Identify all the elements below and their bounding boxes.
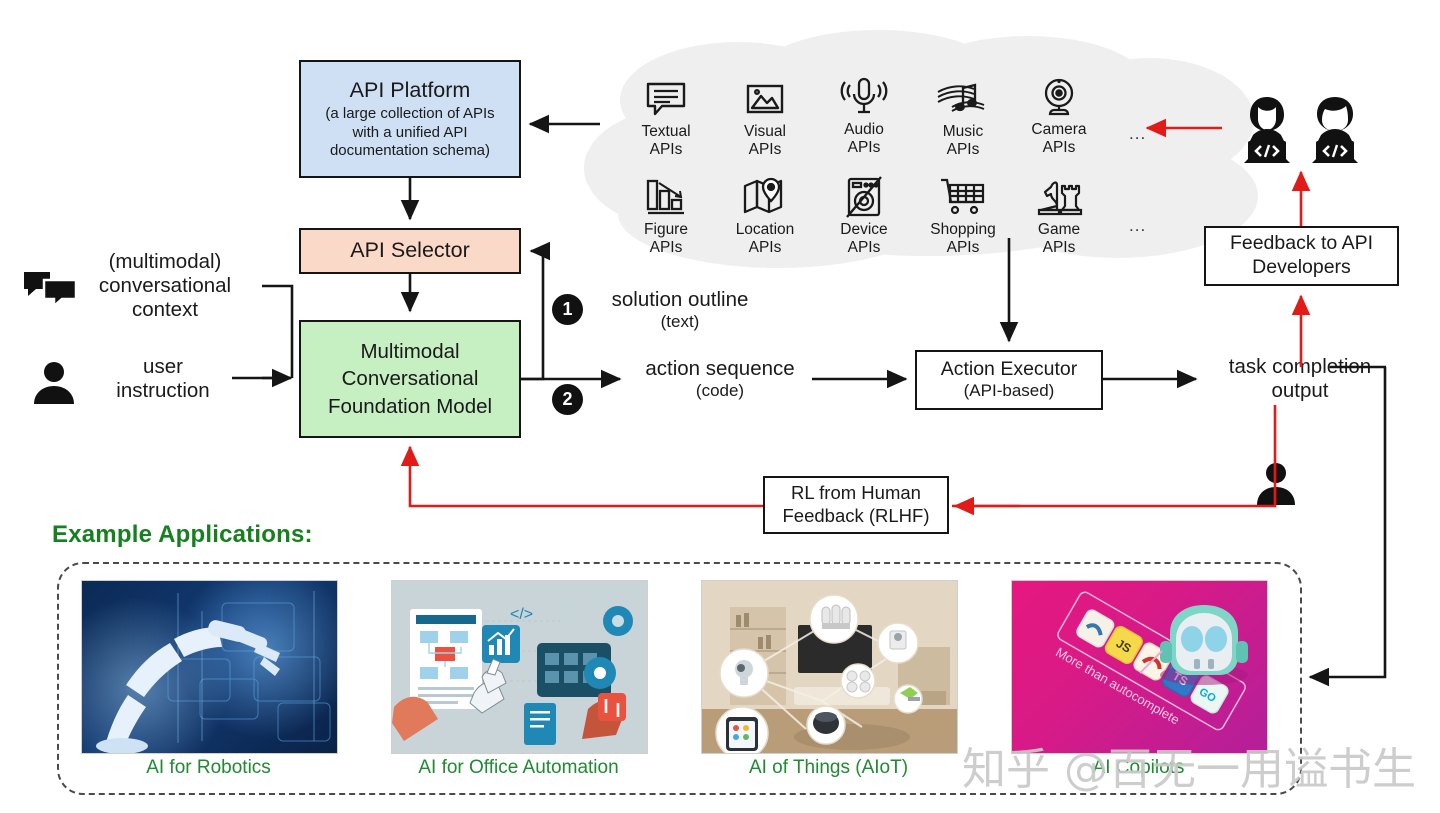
action-executor-title: Action Executor — [941, 358, 1078, 381]
line-output-to-rlhf — [952, 405, 1275, 506]
cloud-ellipsis-row2: ... — [1129, 216, 1146, 236]
example-thumbnail-office[interactable]: </> — [391, 580, 648, 754]
api-item-location[interactable]: LocationAPIs — [715, 170, 815, 257]
diagram-canvas: TextualAPIs VisualAPIs AudioAPIs — [0, 0, 1440, 813]
location-api-icon — [715, 170, 815, 218]
arrow-output-to-examples — [1310, 367, 1385, 677]
arrow-rlhf-to-model — [410, 447, 763, 506]
game-api-icon — [1009, 170, 1109, 218]
rlhf-title: RL from Human Feedback (RLHF) — [782, 482, 929, 527]
rlhf-box[interactable]: RL from Human Feedback (RLHF) — [763, 476, 949, 534]
example-caption-aiot: AI of Things (AIoT) — [701, 757, 956, 779]
arrow-model-to-selector-feedback — [521, 251, 543, 379]
device-api-icon — [814, 170, 914, 218]
cloud-ellipsis-row1: ... — [1129, 124, 1146, 144]
api-platform-subtitle: (a large collection of APIs with a unifi… — [325, 105, 494, 160]
api-label: Textual — [641, 123, 690, 140]
api-selector-box[interactable]: API Selector — [299, 228, 521, 274]
solution-outline-label: solution outline (text) — [592, 288, 768, 332]
foundation-model-box[interactable]: Multimodal Conversational Foundation Mod… — [299, 320, 521, 438]
api-item-device[interactable]: DeviceAPIs — [814, 170, 914, 257]
figure-api-icon — [616, 170, 716, 218]
example-applications-title: Example Applications: — [52, 521, 313, 549]
example-thumbnail-robotics[interactable] — [81, 580, 338, 754]
api-selector-title: API Selector — [350, 238, 470, 263]
api-item-visual[interactable]: VisualAPIs — [715, 72, 815, 159]
action-executor-subtitle: (API-based) — [964, 381, 1055, 401]
api-item-textual[interactable]: TextualAPIs — [616, 72, 716, 159]
example-thumbnail-aiot[interactable] — [701, 580, 958, 754]
foundation-model-title: Multimodal Conversational Foundation Mod… — [328, 338, 492, 419]
svg-text:</>: </> — [510, 606, 533, 623]
feedback-to-developers-box[interactable]: Feedback to API Developers — [1204, 226, 1399, 286]
developer-male-icon — [1304, 95, 1366, 167]
api-item-audio[interactable]: AudioAPIs — [814, 70, 914, 157]
action-sequence-label: action sequence (code) — [632, 357, 808, 401]
smart-home-iot-photo — [702, 581, 957, 753]
copilot-robot-graphic: JS TS GO More than autocomplete — [1012, 581, 1267, 753]
api-item-figure[interactable]: FigureAPIs — [616, 170, 716, 257]
api-item-game[interactable]: GameAPIs — [1009, 170, 1109, 257]
api-item-shopping[interactable]: ShoppingAPIs — [913, 170, 1013, 257]
music-api-icon — [913, 72, 1013, 120]
developer-female-icon — [1236, 95, 1298, 167]
watermark: 知乎 @百无一用谥书生 — [962, 733, 1416, 797]
api-item-camera[interactable]: CameraAPIs — [1009, 70, 1109, 157]
step-2-badge: 2 — [552, 384, 583, 415]
line-context-to-model — [262, 286, 292, 378]
camera-api-icon — [1009, 70, 1109, 118]
office-automation-illustration: </> — [392, 581, 647, 753]
conversational-context-label: (multimodal) conversational context — [70, 250, 260, 323]
feedback-to-developers-title: Feedback to API Developers — [1230, 232, 1373, 280]
user-instruction-label: user instruction — [88, 355, 238, 403]
api-label-2: APIs — [650, 141, 683, 158]
example-caption-robotics: AI for Robotics — [81, 757, 336, 779]
api-platform-box[interactable]: API Platform (a large collection of APIs… — [299, 60, 521, 178]
audio-api-icon — [814, 70, 914, 118]
api-item-music[interactable]: MusicAPIs — [913, 72, 1013, 159]
step-1-badge: 1 — [552, 294, 583, 325]
example-caption-office: AI for Office Automation — [391, 757, 646, 779]
shopping-api-icon — [913, 170, 1013, 218]
task-completion-output-label: task completion output — [1205, 355, 1395, 403]
robotic-arm-photo — [82, 581, 337, 753]
visual-api-icon — [715, 72, 815, 120]
api-platform-title: API Platform — [350, 78, 471, 103]
textual-api-icon — [616, 72, 716, 120]
action-executor-box[interactable]: Action Executor (API-based) — [915, 350, 1103, 410]
human-feedback-user-icon — [1252, 460, 1300, 506]
example-thumbnail-copilots[interactable]: JS TS GO More than autocomplete — [1011, 580, 1268, 754]
user-icon — [30, 358, 78, 406]
